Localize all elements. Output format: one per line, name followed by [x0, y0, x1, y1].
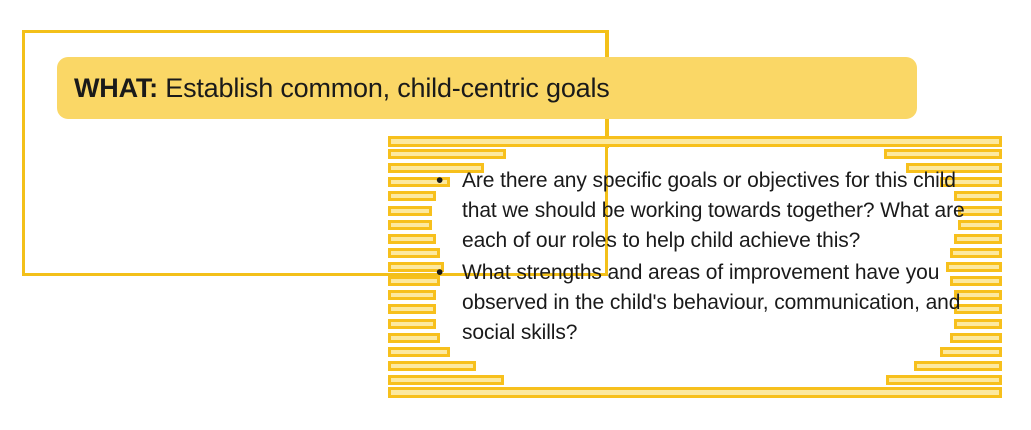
list-item: • What strengths and areas of improvemen…: [430, 258, 992, 348]
panel-top-bar: [388, 136, 1002, 147]
decorative-stripe: [388, 191, 436, 201]
decorative-stripe: [388, 220, 432, 230]
decorative-stripe: [914, 361, 1002, 371]
title-rest: Establish common, child-centric goals: [158, 73, 610, 103]
panel-bottom-bar: [388, 387, 1002, 398]
decorative-stripe: [388, 234, 436, 244]
page-title: WHAT: Establish common, child-centric go…: [74, 73, 610, 104]
decorative-stripe: [388, 290, 436, 300]
decorative-stripe: [886, 375, 1002, 385]
bullet-list: • Are there any specific goals or object…: [430, 166, 992, 350]
title-keyword: WHAT:: [74, 73, 158, 103]
decorative-stripe: [388, 206, 432, 216]
bullet-marker-icon: •: [430, 166, 462, 196]
bullet-text: Are there any specific goals or objectiv…: [462, 166, 992, 256]
list-item: • Are there any specific goals or object…: [430, 166, 992, 256]
decorative-stripe: [388, 149, 506, 159]
title-banner: WHAT: Establish common, child-centric go…: [57, 57, 917, 119]
decorative-stripe: [884, 149, 1002, 159]
decorative-stripe: [388, 319, 436, 329]
decorative-stripe: [388, 375, 504, 385]
decorative-stripe: [388, 304, 436, 314]
bullet-text: What strengths and areas of improvement …: [462, 258, 992, 348]
decorative-stripe: [388, 361, 476, 371]
bullet-marker-icon: •: [430, 258, 462, 288]
